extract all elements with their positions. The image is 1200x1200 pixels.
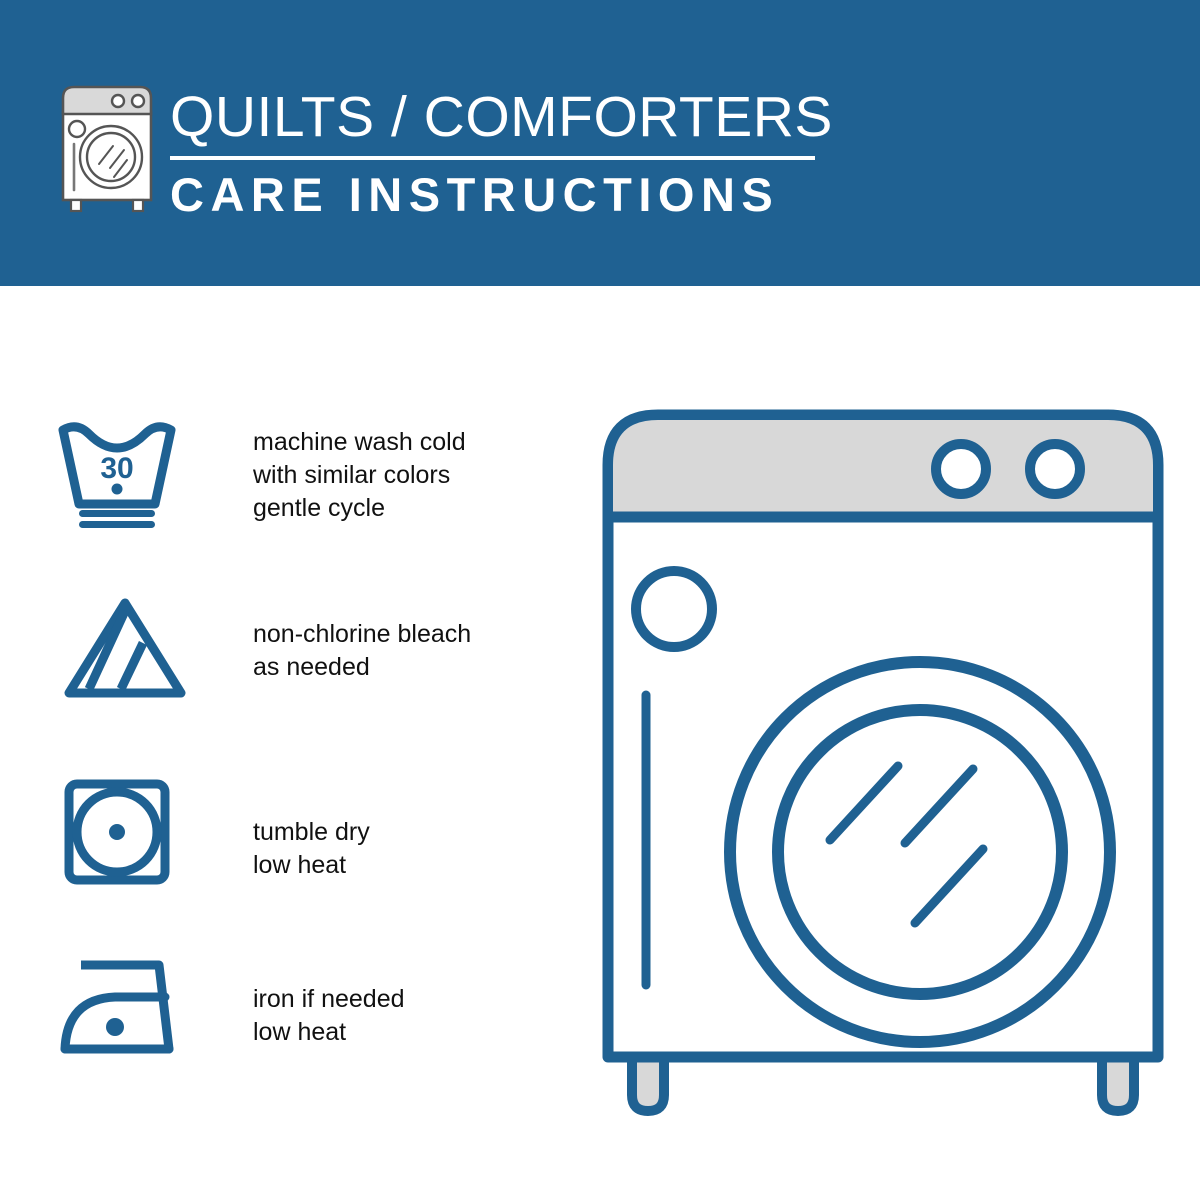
care-label-line: machine wash cold [253,426,533,459]
care-row-tumble-dry-label: tumble dry low heat [253,816,533,882]
care-instructions-infographic: QUILTS / COMFORTERS CARE INSTRUCTIONS 30 [0,0,1200,1200]
page-title: QUILTS / COMFORTERS [170,84,830,150]
care-symbol-list: 30 machine wash cold with similar colors… [0,286,540,1200]
iron-low-heat-icon [55,951,195,1068]
page-subtitle: CARE INSTRUCTIONS [170,166,830,224]
care-label-line: tumble dry [253,816,533,849]
care-row-wash-label: machine wash cold with similar colors ge… [253,426,533,525]
detergent-cap [636,571,712,647]
care-label-line: low heat [253,849,533,882]
leg-left [632,1057,664,1111]
header-title-block: QUILTS / COMFORTERS CARE INSTRUCTIONS [170,84,830,224]
leg-right [1102,1057,1134,1111]
knob-left [936,444,986,494]
wash-tub-30-gentle-icon: 30 [55,416,195,533]
care-label-line: non-chlorine bleach [253,618,533,651]
care-label-line: low heat [253,1016,533,1049]
title-divider [170,156,815,160]
washing-machine-icon [55,82,159,213]
front-load-washing-machine-illustration [598,405,1168,1117]
knob-right [1030,444,1080,494]
triangle-non-chlorine-bleach-icon [55,591,195,708]
header-banner: QUILTS / COMFORTERS CARE INSTRUCTIONS [0,0,1200,286]
care-label-line: with similar colors [253,459,533,492]
tumble-dry-low-heat-icon [55,776,195,893]
care-row-bleach-label: non-chlorine bleach as needed [253,618,533,684]
door-inner-ring [778,710,1062,994]
care-row-iron-label: iron if needed low heat [253,983,533,1049]
care-label-line: iron if needed [253,983,533,1016]
wash-temperature-value: 30 [100,452,133,485]
care-label-line: as needed [253,651,533,684]
care-label-line: gentle cycle [253,492,533,525]
